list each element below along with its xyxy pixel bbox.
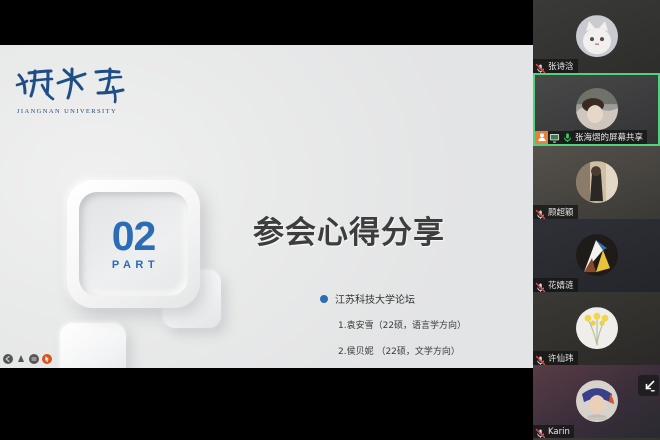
mic-muted-icon: [535, 61, 546, 72]
slide-bullet-list: 江苏科技大学论坛 1.袁安雪（22硕，语言学方向） 2.侯贝妮 （22硕，文学方…: [320, 291, 520, 368]
participant-tile-active-sharer[interactable]: 张海熠的屏幕共享: [533, 73, 660, 146]
participant-name: Karin: [548, 427, 570, 437]
participant-namebar: 花婧涟: [533, 278, 578, 292]
participant-tile[interactable]: 顾超颖: [533, 146, 660, 219]
avatar: [576, 15, 618, 57]
mic-muted-icon: [535, 207, 546, 218]
section-card-inner: 02 PART: [79, 192, 188, 296]
avatar: [576, 380, 618, 422]
bullet-sub-text-1: 1.袁安雪（22硕，语言学方向）: [338, 318, 520, 331]
participant-tile[interactable]: 许仙玮: [533, 292, 660, 365]
bullet-sub-text-2: 2.侯贝妮 （22硕，文学方向）: [338, 344, 520, 357]
participant-namebar: 张海熠的屏幕共享: [535, 130, 647, 144]
participant-name: 许仙玮: [548, 352, 574, 364]
participant-name: 张诗浛: [548, 60, 574, 72]
shared-screen-stage[interactable]: JIANGNAN UNIVERSITY 02 PART 参会心得分享: [0, 0, 533, 440]
menu-icon[interactable]: [29, 354, 39, 364]
meeting-window: JIANGNAN UNIVERSITY 02 PART 参会心得分享: [0, 0, 660, 440]
participant-name: 顾超颖: [548, 206, 574, 218]
mic-muted-icon: [535, 353, 546, 364]
mic-muted-icon: [535, 426, 546, 437]
slide-title: 参会心得分享: [253, 207, 445, 252]
participants-rail[interactable]: 张诗浛 张海熠的屏幕共享: [533, 0, 660, 440]
host-icon: [535, 131, 548, 144]
pointer-icon[interactable]: [16, 354, 26, 364]
avatar: [576, 161, 618, 203]
bullet-dot-icon: [320, 295, 328, 303]
avatar: [576, 234, 618, 276]
avatar: [576, 307, 618, 349]
participant-tile[interactable]: 张诗浛: [533, 0, 660, 73]
slideshow-control-bar[interactable]: [3, 354, 52, 364]
section-card: 02 PART: [67, 180, 200, 308]
previous-slide-icon[interactable]: [3, 354, 13, 364]
cursor-icon[interactable]: [42, 354, 52, 364]
university-logo-subtitle: JIANGNAN UNIVERSITY: [17, 108, 144, 115]
participant-name: 花婧涟: [548, 279, 574, 291]
bullet-item-main: 江苏科技大学论坛: [320, 291, 520, 306]
participant-namebar: 许仙玮: [533, 351, 578, 365]
participant-namebar: 顾超颖: [533, 205, 578, 219]
screen-share-icon: [548, 131, 561, 144]
section-number-graphic: 02 PART: [55, 175, 255, 368]
bullet-main-text: 江苏科技大学论坛: [335, 291, 415, 306]
participant-tile[interactable]: 花婧涟: [533, 219, 660, 292]
collapse-panel-button[interactable]: [638, 375, 659, 396]
section-number: 02: [112, 217, 156, 256]
decor-square-bottom-left: [60, 323, 126, 368]
avatar: [576, 88, 618, 130]
mic-on-icon: [561, 131, 574, 144]
presentation-slide[interactable]: JIANGNAN UNIVERSITY 02 PART 参会心得分享: [0, 45, 533, 368]
participant-namebar: Karin: [533, 425, 574, 438]
participant-namebar: 张诗浛: [533, 59, 578, 73]
university-logo: JIANGNAN UNIVERSITY: [14, 63, 144, 115]
participant-name: 张海熠的屏幕共享: [574, 130, 647, 144]
section-word: PART: [112, 259, 159, 271]
mic-muted-icon: [535, 280, 546, 291]
